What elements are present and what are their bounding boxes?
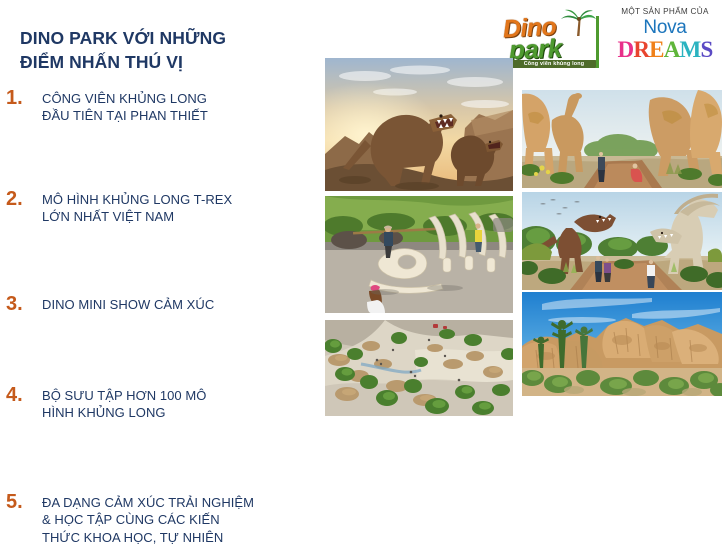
dreams-letter: D [618,37,634,62]
list-item-line: MÔ HÌNH KHỦNG LONG T-REX [42,191,310,208]
list-item: 5. ĐA DẠNG CẢM XÚC TRẢI NGHIỆM & HỌC TẬP… [0,492,318,526]
list-item: 1. CÔNG VIÊN KHỦNG LONG ĐẦU TIÊN TẠI PHA… [0,88,318,122]
trex-sunset-photo [325,58,513,191]
list-item: 4. BỘ SƯU TẬP HƠN 100 MÔ HÌNH KHỦNG LONG [0,385,318,419]
nova-dreams-logo: MỘT SẢN PHẨM CỦA Nova DREAMS [602,4,728,76]
list-item-number: 5. [6,492,36,513]
left-text-panel: DINO PARK VỚI NHỮNG ĐIỂM NHẤN THÚ VỊ 1. … [0,0,318,422]
list-item-number: 2. [6,189,36,210]
list-item-line: BỘ SƯU TẬP HƠN 100 MÔ [42,387,310,404]
trex-spinosaurus-photo [522,192,722,290]
list-item-line: & HỌC TẬP CÙNG CÁC KIẾN [42,511,310,528]
bone-playground-photo [325,196,513,313]
dreams-letter: R [633,37,649,62]
page-title-line-2: ĐIỂM NHẤN THÚ VỊ [20,50,310,74]
list-item: 2. MÔ HÌNH KHỦNG LONG T-REX LỚN NHẤT VIỆ… [0,189,318,223]
list-item-line: CÔNG VIÊN KHỦNG LONG [42,90,310,107]
list-item: 3. DINO MINI SHOW CẢM XÚC [0,294,318,328]
dreams-letter: M [680,37,701,62]
logo-zone: Dino park Công viên khủng long MỘT SẢN P… [490,0,728,84]
list-item-text: ĐA DẠNG CẢM XÚC TRẢI NGHIỆM & HỌC TẬP CÙ… [42,494,310,546]
page-title-line-1: DINO PARK VỚI NHỮNG [20,26,310,50]
list-item-number: 4. [6,385,36,406]
dreams-letter: A [664,37,680,62]
palm-tree-icon [557,8,597,38]
page-title: DINO PARK VỚI NHỮNG ĐIỂM NHẤN THÚ VỊ [20,26,310,74]
highlights-list: 1. CÔNG VIÊN KHỦNG LONG ĐẦU TIÊN TẠI PHA… [0,88,318,303]
list-item-number: 3. [6,294,36,315]
list-item-line: THỨC KHOA HỌC, TỰ NHIÊN [42,529,310,546]
dino-logo-tagline: Công viên khủng long [511,60,597,68]
aerial-park-photo [325,320,513,416]
list-item-line: DINO MINI SHOW CẢM XÚC [42,296,310,313]
list-item-number: 1. [6,88,36,109]
slide-root: DINO PARK VỚI NHỮNG ĐIỂM NHẤN THÚ VỊ 1. … [0,0,728,422]
list-item-text: BỘ SƯU TẬP HƠN 100 MÔ HÌNH KHỦNG LONG [42,387,310,422]
logo-divider [596,16,599,68]
list-item-text: CÔNG VIÊN KHỦNG LONG ĐẦU TIÊN TẠI PHAN T… [42,90,310,125]
list-item-line: ĐẦU TIÊN TẠI PHAN THIẾT [42,107,310,124]
nova-wordmark: Nova [602,18,728,37]
list-item-line: HÌNH KHỦNG LONG [42,404,310,421]
list-item-text: DINO MINI SHOW CẢM XÚC [42,296,310,313]
sauropod-walkway-photo [522,90,722,188]
desert-rocks-photo [522,292,722,396]
list-item-line: ĐA DẠNG CẢM XÚC TRẢI NGHIỆM [42,494,310,511]
list-item-line: LỚN NHẤT VIỆT NAM [42,208,310,225]
list-item-text: MÔ HÌNH KHỦNG LONG T-REX LỚN NHẤT VIỆT N… [42,191,310,226]
dreams-wordmark: DREAMS [602,38,728,61]
dreams-letter: S [700,37,712,62]
product-of-label: MỘT SẢN PHẨM CỦA [602,7,728,16]
dreams-letter: E [649,37,664,62]
